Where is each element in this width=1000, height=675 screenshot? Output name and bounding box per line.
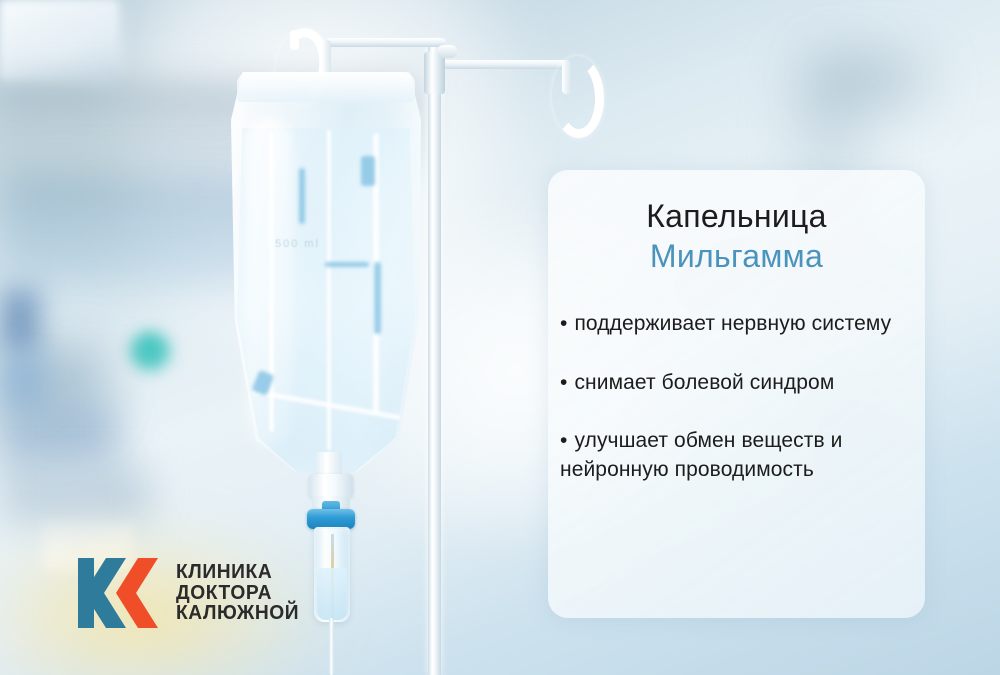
drip-set-spike-collar [309,474,353,498]
iv-fluid-bag: 500 ml [231,72,421,472]
iv-bag-blue-mark-3 [325,262,369,267]
bullet-dot-icon: • [560,369,567,398]
iv-pole-vertical-rod [428,40,441,675]
list-item: •поддерживает нервную систему [560,310,909,339]
iv-pole-collar [424,52,445,94]
iv-bag-blue-mark-2 [361,156,375,186]
card-title-block: Капельница Мильгамма [548,198,925,277]
iv-hook-left-stem [290,30,299,50]
background-white-box [0,0,118,80]
list-item-text: снимает болевой синдром [574,371,834,394]
background-blue-object-a [0,290,40,350]
list-item: •улучшает обмен веществ и нейронную пров… [560,427,909,484]
background-blue-object-b [0,350,46,406]
kk-monogram-icon [76,556,162,630]
card-title-product-name: Мильгамма [548,236,925,278]
bullet-dot-icon: • [560,310,567,339]
clinic-logo-text: КЛИНИКА ДОКТОРА КАЛЮЖНОЙ [176,562,304,624]
background-blue-object-c [0,406,120,466]
list-item-text: поддерживает нервную систему [574,312,891,335]
clinic-logo: КЛИНИКА ДОКТОРА КАЛЮЖНОЙ [76,556,304,630]
clinic-logo-line-2: ДОКТОРА [176,583,299,604]
iv-bag-blue-mark-1 [299,168,305,224]
clinic-logo-line-1: КЛИНИКА [176,562,299,583]
clinic-logo-line-3: КАЛЮЖНОЙ [176,603,299,624]
advertisement-banner: 500 ml Капельница Мильгамма •поддерживае… [0,0,1000,675]
iv-pole-arm-right [440,60,570,69]
iv-pole-arm-left [326,38,446,47]
iv-hook-right-stem [562,60,571,94]
list-item-text: улучшает обмен веществ и нейронную прово… [560,429,843,481]
promo-text-card: Капельница Мильгамма •поддерживает нервн… [548,170,925,618]
background-blue-object-d [0,466,150,524]
iv-pole-knob [437,45,457,58]
iv-bag-printed-label: 500 ml [275,238,341,252]
bullet-dot-icon: • [560,427,567,456]
drip-chamber-fluid [317,568,347,620]
iv-tubing [329,618,334,675]
benefits-list: •поддерживает нервную систему •снимает б… [548,310,925,484]
card-title-primary: Капельница [548,198,925,236]
list-item: •снимает болевой синдром [560,369,909,398]
drip-chamber-blue-cap [307,509,355,529]
iv-bag-top-seal [237,72,415,102]
iv-bag-blue-mark-4 [374,262,381,334]
